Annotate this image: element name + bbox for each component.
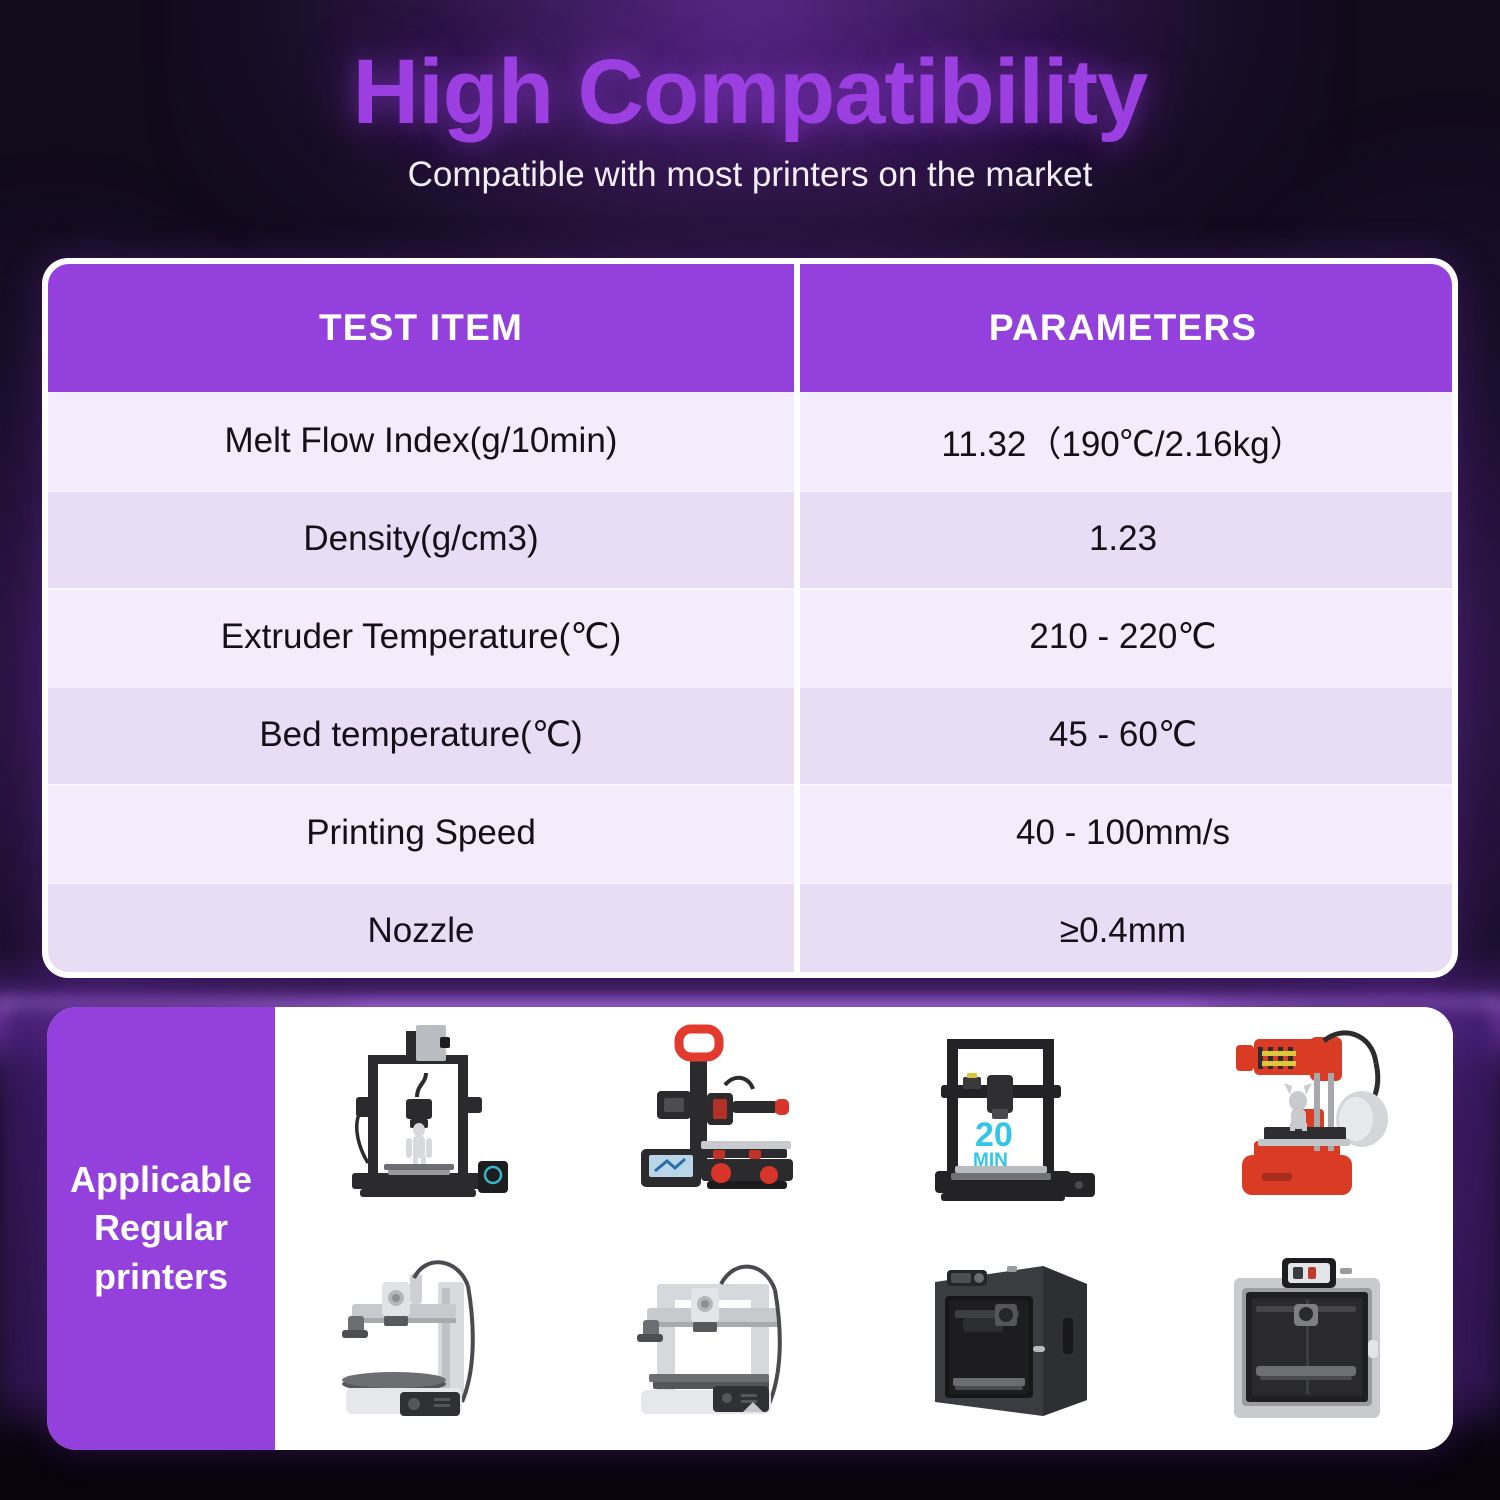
table-row: Melt Flow Index(g/10min) 11.32（190℃/2.16… [48,392,1452,490]
row-separator [48,686,1452,688]
cell-parameter: 40 - 100mm/s [794,784,1452,882]
cell-test-item: Bed temperature(℃) [48,686,794,784]
printer-image-red-mini [1159,1007,1454,1229]
printer-image-black-frame-cartesian [275,1007,570,1229]
applicable-printers-label: Applicable Regular printers [47,1007,275,1450]
printer-image-silver-enclosed [1159,1229,1454,1451]
cell-test-item: Melt Flow Index(g/10min) [48,392,794,490]
svg-text:20: 20 [975,1116,1013,1154]
row-separator [48,490,1452,492]
page-root: High Compatibility Compatible with most … [0,0,1500,1500]
printer-image-white-single-column [275,1229,570,1451]
printer-image-white-open-frame [570,1229,865,1451]
row-separator [48,882,1452,884]
column-divider [794,264,800,392]
cell-test-item: Density(g/cm3) [48,490,794,588]
printers-grid: 20 MIN [275,1007,1453,1450]
cell-test-item: Printing Speed [48,784,794,882]
column-header-test-item: TEST ITEM [48,264,794,392]
spec-table: TEST ITEM PARAMETERS Melt Flow Index(g/1… [48,264,1452,972]
cell-parameter: 1.23 [794,490,1452,588]
row-separator [48,784,1452,786]
cell-parameter: 45 - 60℃ [794,686,1452,784]
cell-parameter: 11.32（190℃/2.16kg） [794,392,1452,490]
table-row: Bed temperature(℃) 45 - 60℃ [48,686,1452,784]
spec-table-card: TEST ITEM PARAMETERS Melt Flow Index(g/1… [42,258,1458,978]
column-divider [794,392,800,490]
table-row: Extruder Temperature(℃) 210 - 220℃ [48,588,1452,686]
table-row: Nozzle ≥0.4mm [48,882,1452,972]
row-separator [48,588,1452,590]
cell-parameter: 210 - 220℃ [794,588,1452,686]
table-row: Printing Speed 40 - 100mm/s [48,784,1452,882]
column-divider [794,686,800,784]
cell-test-item: Extruder Temperature(℃) [48,588,794,686]
printer-image-black-red-compact [570,1007,865,1229]
page-subtitle: Compatible with most printers on the mar… [0,155,1500,195]
page-title: High Compatibility [0,44,1500,141]
column-divider [794,882,800,972]
table-header-row: TEST ITEM PARAMETERS [48,264,1452,392]
header: High Compatibility Compatible with most … [0,0,1500,195]
printer-image-black-enclosed [864,1229,1159,1451]
cell-parameter: ≥0.4mm [794,882,1452,972]
column-divider [794,490,800,588]
applicable-printers-card: Applicable Regular printers [47,1007,1453,1450]
printer-image-black-open-frame: 20 MIN [864,1007,1159,1229]
table-row: Density(g/cm3) 1.23 [48,490,1452,588]
column-divider [794,588,800,686]
cell-test-item: Nozzle [48,882,794,972]
column-divider [794,784,800,882]
column-header-parameters: PARAMETERS [794,264,1452,392]
